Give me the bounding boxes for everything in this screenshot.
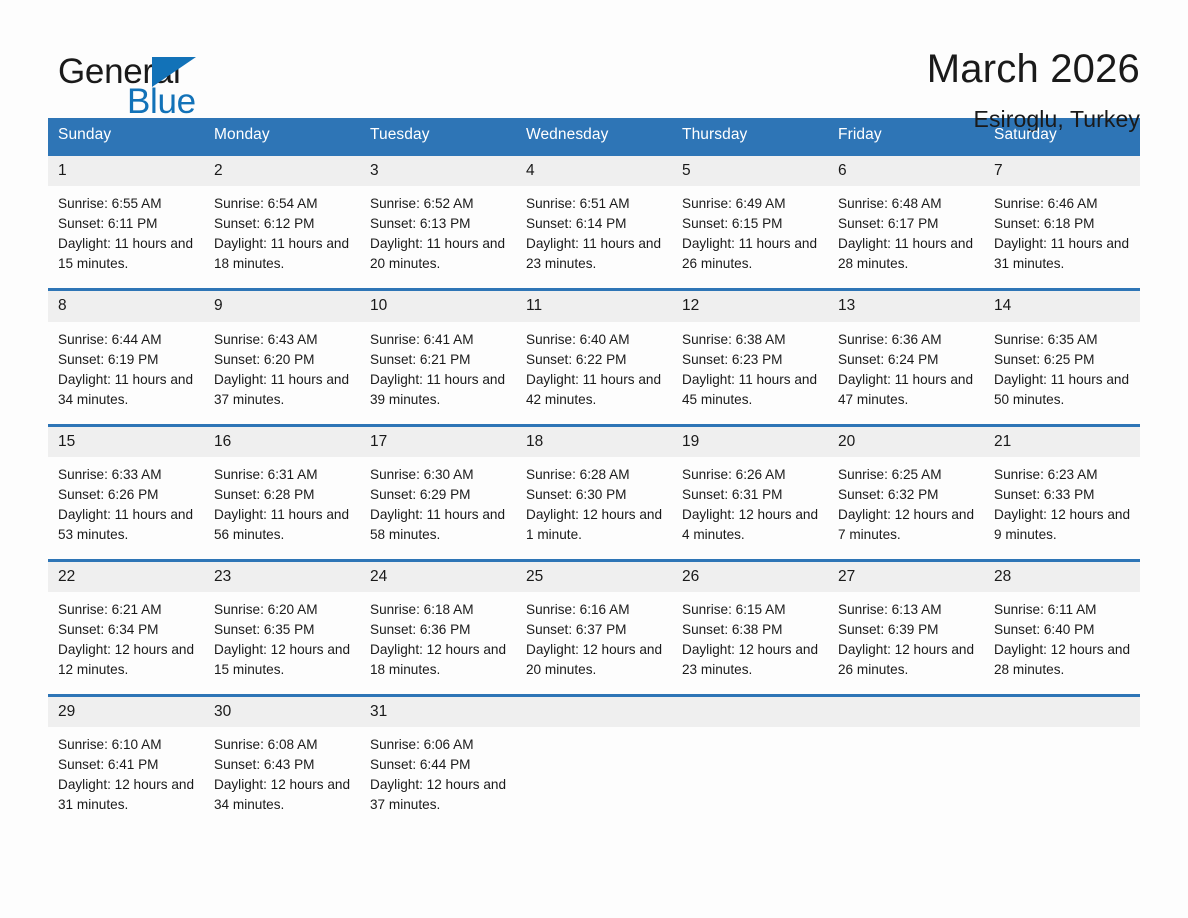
sunset-text: Sunset: 6:17 PM [838,214,976,234]
day-cell[interactable]: 24 Sunrise: 6:18 AM Sunset: 6:36 PM Dayl… [360,560,516,695]
day-cell-empty [672,696,828,830]
day-details: Sunrise: 6:43 AM Sunset: 6:20 PM Dayligh… [204,322,360,424]
day-number: 20 [828,427,984,457]
sunrise-text: Sunrise: 6:13 AM [838,600,976,620]
weekday-header-sunday: Sunday [48,118,204,155]
day-details: Sunrise: 6:10 AM Sunset: 6:41 PM Dayligh… [48,727,204,829]
sunrise-text: Sunrise: 6:08 AM [214,735,352,755]
daylight-text: Daylight: 11 hours and 15 minutes. [58,234,196,274]
daylight-text: Daylight: 12 hours and 15 minutes. [214,640,352,680]
daylight-text: Daylight: 12 hours and 1 minute. [526,505,664,545]
daylight-text: Daylight: 12 hours and 34 minutes. [214,775,352,815]
day-details: Sunrise: 6:48 AM Sunset: 6:17 PM Dayligh… [828,186,984,288]
sunrise-sunset-calendar-table: Sunday Monday Tuesday Wednesday Thursday… [48,118,1140,829]
sunrise-text: Sunrise: 6:16 AM [526,600,664,620]
day-cell[interactable]: 23 Sunrise: 6:20 AM Sunset: 6:35 PM Dayl… [204,560,360,695]
day-details: Sunrise: 6:20 AM Sunset: 6:35 PM Dayligh… [204,592,360,694]
day-cell[interactable]: 10 Sunrise: 6:41 AM Sunset: 6:21 PM Dayl… [360,290,516,425]
day-cell[interactable]: 21 Sunrise: 6:23 AM Sunset: 6:33 PM Dayl… [984,425,1140,560]
day-cell[interactable]: 22 Sunrise: 6:21 AM Sunset: 6:34 PM Dayl… [48,560,204,695]
daylight-text: Daylight: 12 hours and 37 minutes. [370,775,508,815]
sunrise-text: Sunrise: 6:10 AM [58,735,196,755]
page-header: General Blue March 2026 Esiroglu, Turkey [48,0,1140,110]
sunset-text: Sunset: 6:39 PM [838,620,976,640]
day-details: Sunrise: 6:16 AM Sunset: 6:37 PM Dayligh… [516,592,672,694]
sunrise-text: Sunrise: 6:40 AM [526,330,664,350]
day-details: Sunrise: 6:40 AM Sunset: 6:22 PM Dayligh… [516,322,672,424]
sunset-text: Sunset: 6:28 PM [214,485,352,505]
sunset-text: Sunset: 6:31 PM [682,485,820,505]
daylight-text: Daylight: 11 hours and 20 minutes. [370,234,508,274]
daylight-text: Daylight: 12 hours and 23 minutes. [682,640,820,680]
day-cell[interactable]: 7 Sunrise: 6:46 AM Sunset: 6:18 PM Dayli… [984,155,1140,290]
daylight-text: Daylight: 12 hours and 4 minutes. [682,505,820,545]
sunset-text: Sunset: 6:19 PM [58,350,196,370]
day-number: 10 [360,291,516,321]
day-details: Sunrise: 6:38 AM Sunset: 6:23 PM Dayligh… [672,322,828,424]
sunrise-text: Sunrise: 6:11 AM [994,600,1132,620]
day-number: 15 [48,427,204,457]
day-cell[interactable]: 15 Sunrise: 6:33 AM Sunset: 6:26 PM Dayl… [48,425,204,560]
day-cell[interactable]: 31 Sunrise: 6:06 AM Sunset: 6:44 PM Dayl… [360,696,516,830]
sunset-text: Sunset: 6:23 PM [682,350,820,370]
sunset-text: Sunset: 6:35 PM [214,620,352,640]
sunrise-text: Sunrise: 6:44 AM [58,330,196,350]
daylight-text: Daylight: 11 hours and 53 minutes. [58,505,196,545]
day-number: 29 [48,697,204,727]
day-number [516,697,672,727]
sunset-text: Sunset: 6:21 PM [370,350,508,370]
day-number: 23 [204,562,360,592]
day-number: 1 [48,156,204,186]
sunset-text: Sunset: 6:41 PM [58,755,196,775]
day-details: Sunrise: 6:31 AM Sunset: 6:28 PM Dayligh… [204,457,360,559]
day-number: 18 [516,427,672,457]
sunset-text: Sunset: 6:32 PM [838,485,976,505]
day-details: Sunrise: 6:06 AM Sunset: 6:44 PM Dayligh… [360,727,516,829]
sunrise-text: Sunrise: 6:55 AM [58,194,196,214]
daylight-text: Daylight: 12 hours and 31 minutes. [58,775,196,815]
calendar-page: General Blue March 2026 Esiroglu, Turkey… [0,0,1188,918]
calendar-week-row: 1 Sunrise: 6:55 AM Sunset: 6:11 PM Dayli… [48,155,1140,290]
weekday-header-monday: Monday [204,118,360,155]
day-cell[interactable]: 16 Sunrise: 6:31 AM Sunset: 6:28 PM Dayl… [204,425,360,560]
sunset-text: Sunset: 6:34 PM [58,620,196,640]
sunrise-text: Sunrise: 6:06 AM [370,735,508,755]
day-cell-empty [984,696,1140,830]
sunrise-text: Sunrise: 6:48 AM [838,194,976,214]
daylight-text: Daylight: 11 hours and 47 minutes. [838,370,976,410]
calendar-week-row: 29 Sunrise: 6:10 AM Sunset: 6:41 PM Dayl… [48,696,1140,830]
day-number [828,697,984,727]
sunset-text: Sunset: 6:43 PM [214,755,352,775]
sunrise-text: Sunrise: 6:36 AM [838,330,976,350]
daylight-text: Daylight: 12 hours and 20 minutes. [526,640,664,680]
sunrise-text: Sunrise: 6:52 AM [370,194,508,214]
daylight-text: Daylight: 11 hours and 28 minutes. [838,234,976,274]
day-cell[interactable]: 11 Sunrise: 6:40 AM Sunset: 6:22 PM Dayl… [516,290,672,425]
daylight-text: Daylight: 11 hours and 56 minutes. [214,505,352,545]
day-number: 6 [828,156,984,186]
sunset-text: Sunset: 6:30 PM [526,485,664,505]
day-number: 30 [204,697,360,727]
day-number: 2 [204,156,360,186]
sunset-text: Sunset: 6:38 PM [682,620,820,640]
general-blue-logo: General Blue [48,46,258,120]
sunrise-text: Sunrise: 6:23 AM [994,465,1132,485]
day-details: Sunrise: 6:15 AM Sunset: 6:38 PM Dayligh… [672,592,828,694]
day-number: 27 [828,562,984,592]
daylight-text: Daylight: 11 hours and 26 minutes. [682,234,820,274]
sunrise-text: Sunrise: 6:43 AM [214,330,352,350]
day-number: 17 [360,427,516,457]
day-number: 4 [516,156,672,186]
daylight-text: Daylight: 12 hours and 9 minutes. [994,505,1132,545]
weekday-header-tuesday: Tuesday [360,118,516,155]
day-cell[interactable]: 14 Sunrise: 6:35 AM Sunset: 6:25 PM Dayl… [984,290,1140,425]
day-number: 5 [672,156,828,186]
day-number: 16 [204,427,360,457]
calendar-week-row: 22 Sunrise: 6:21 AM Sunset: 6:34 PM Dayl… [48,560,1140,695]
day-cell[interactable]: 18 Sunrise: 6:28 AM Sunset: 6:30 PM Dayl… [516,425,672,560]
day-details: Sunrise: 6:55 AM Sunset: 6:11 PM Dayligh… [48,186,204,288]
day-number: 22 [48,562,204,592]
sunrise-text: Sunrise: 6:51 AM [526,194,664,214]
sunset-text: Sunset: 6:33 PM [994,485,1132,505]
daylight-text: Daylight: 11 hours and 37 minutes. [214,370,352,410]
daylight-text: Daylight: 11 hours and 50 minutes. [994,370,1132,410]
day-number: 9 [204,291,360,321]
sunrise-text: Sunrise: 6:20 AM [214,600,352,620]
day-details: Sunrise: 6:41 AM Sunset: 6:21 PM Dayligh… [360,322,516,424]
sunrise-text: Sunrise: 6:25 AM [838,465,976,485]
sunset-text: Sunset: 6:37 PM [526,620,664,640]
day-details: Sunrise: 6:21 AM Sunset: 6:34 PM Dayligh… [48,592,204,694]
day-cell[interactable]: 25 Sunrise: 6:16 AM Sunset: 6:37 PM Dayl… [516,560,672,695]
sunset-text: Sunset: 6:14 PM [526,214,664,234]
sunset-text: Sunset: 6:25 PM [994,350,1132,370]
sunset-text: Sunset: 6:22 PM [526,350,664,370]
logo-text-blue: Blue [127,82,196,122]
daylight-text: Daylight: 11 hours and 45 minutes. [682,370,820,410]
daylight-text: Daylight: 12 hours and 18 minutes. [370,640,508,680]
daylight-text: Daylight: 11 hours and 39 minutes. [370,370,508,410]
day-cell[interactable]: 8 Sunrise: 6:44 AM Sunset: 6:19 PM Dayli… [48,290,204,425]
sunrise-text: Sunrise: 6:49 AM [682,194,820,214]
day-cell[interactable]: 1 Sunrise: 6:55 AM Sunset: 6:11 PM Dayli… [48,155,204,290]
day-number: 25 [516,562,672,592]
day-cell-empty [828,696,984,830]
day-details: Sunrise: 6:52 AM Sunset: 6:13 PM Dayligh… [360,186,516,288]
sunrise-text: Sunrise: 6:30 AM [370,465,508,485]
daylight-text: Daylight: 12 hours and 12 minutes. [58,640,196,680]
sunset-text: Sunset: 6:18 PM [994,214,1132,234]
day-cell[interactable]: 30 Sunrise: 6:08 AM Sunset: 6:43 PM Dayl… [204,696,360,830]
day-cell[interactable]: 6 Sunrise: 6:48 AM Sunset: 6:17 PM Dayli… [828,155,984,290]
title-block: March 2026 Esiroglu, Turkey [927,46,1140,133]
day-details: Sunrise: 6:11 AM Sunset: 6:40 PM Dayligh… [984,592,1140,694]
daylight-text: Daylight: 11 hours and 42 minutes. [526,370,664,410]
day-number: 21 [984,427,1140,457]
day-number: 26 [672,562,828,592]
sunrise-text: Sunrise: 6:38 AM [682,330,820,350]
sunset-text: Sunset: 6:20 PM [214,350,352,370]
sunrise-text: Sunrise: 6:54 AM [214,194,352,214]
day-cell[interactable]: 9 Sunrise: 6:43 AM Sunset: 6:20 PM Dayli… [204,290,360,425]
daylight-text: Daylight: 11 hours and 34 minutes. [58,370,196,410]
sunrise-text: Sunrise: 6:41 AM [370,330,508,350]
day-cell[interactable]: 28 Sunrise: 6:11 AM Sunset: 6:40 PM Dayl… [984,560,1140,695]
page-title: March 2026 [927,48,1140,90]
day-number: 24 [360,562,516,592]
calendar-body: 1 Sunrise: 6:55 AM Sunset: 6:11 PM Dayli… [48,155,1140,830]
sunset-text: Sunset: 6:40 PM [994,620,1132,640]
day-details: Sunrise: 6:08 AM Sunset: 6:43 PM Dayligh… [204,727,360,829]
day-number [672,697,828,727]
calendar-week-row: 8 Sunrise: 6:44 AM Sunset: 6:19 PM Dayli… [48,290,1140,425]
day-details: Sunrise: 6:44 AM Sunset: 6:19 PM Dayligh… [48,322,204,424]
day-cell[interactable]: 20 Sunrise: 6:25 AM Sunset: 6:32 PM Dayl… [828,425,984,560]
day-cell[interactable]: 19 Sunrise: 6:26 AM Sunset: 6:31 PM Dayl… [672,425,828,560]
daylight-text: Daylight: 12 hours and 7 minutes. [838,505,976,545]
day-details: Sunrise: 6:23 AM Sunset: 6:33 PM Dayligh… [984,457,1140,559]
day-cell[interactable]: 26 Sunrise: 6:15 AM Sunset: 6:38 PM Dayl… [672,560,828,695]
day-number: 28 [984,562,1140,592]
sunset-text: Sunset: 6:29 PM [370,485,508,505]
day-number: 31 [360,697,516,727]
sunrise-text: Sunrise: 6:15 AM [682,600,820,620]
sunset-text: Sunset: 6:24 PM [838,350,976,370]
weekday-header-thursday: Thursday [672,118,828,155]
sunset-text: Sunset: 6:36 PM [370,620,508,640]
sunrise-text: Sunrise: 6:31 AM [214,465,352,485]
day-details: Sunrise: 6:46 AM Sunset: 6:18 PM Dayligh… [984,186,1140,288]
day-details: Sunrise: 6:54 AM Sunset: 6:12 PM Dayligh… [204,186,360,288]
sunset-text: Sunset: 6:26 PM [58,485,196,505]
day-details: Sunrise: 6:36 AM Sunset: 6:24 PM Dayligh… [828,322,984,424]
weekday-header-wednesday: Wednesday [516,118,672,155]
day-details: Sunrise: 6:51 AM Sunset: 6:14 PM Dayligh… [516,186,672,288]
day-cell[interactable]: 29 Sunrise: 6:10 AM Sunset: 6:41 PM Dayl… [48,696,204,830]
sunrise-text: Sunrise: 6:28 AM [526,465,664,485]
day-details: Sunrise: 6:30 AM Sunset: 6:29 PM Dayligh… [360,457,516,559]
day-cell[interactable]: 4 Sunrise: 6:51 AM Sunset: 6:14 PM Dayli… [516,155,672,290]
day-cell[interactable]: 27 Sunrise: 6:13 AM Sunset: 6:39 PM Dayl… [828,560,984,695]
day-number: 3 [360,156,516,186]
daylight-text: Daylight: 12 hours and 26 minutes. [838,640,976,680]
daylight-text: Daylight: 11 hours and 18 minutes. [214,234,352,274]
day-number: 12 [672,291,828,321]
sunrise-text: Sunrise: 6:21 AM [58,600,196,620]
daylight-text: Daylight: 11 hours and 31 minutes. [994,234,1132,274]
day-cell[interactable]: 17 Sunrise: 6:30 AM Sunset: 6:29 PM Dayl… [360,425,516,560]
sunrise-text: Sunrise: 6:33 AM [58,465,196,485]
day-details: Sunrise: 6:28 AM Sunset: 6:30 PM Dayligh… [516,457,672,559]
day-number [984,697,1140,727]
daylight-text: Daylight: 11 hours and 23 minutes. [526,234,664,274]
day-number: 14 [984,291,1140,321]
day-cell[interactable]: 2 Sunrise: 6:54 AM Sunset: 6:12 PM Dayli… [204,155,360,290]
day-number: 7 [984,156,1140,186]
sunrise-text: Sunrise: 6:26 AM [682,465,820,485]
day-cell[interactable]: 5 Sunrise: 6:49 AM Sunset: 6:15 PM Dayli… [672,155,828,290]
sunset-text: Sunset: 6:13 PM [370,214,508,234]
sunset-text: Sunset: 6:12 PM [214,214,352,234]
day-cell[interactable]: 12 Sunrise: 6:38 AM Sunset: 6:23 PM Dayl… [672,290,828,425]
day-cell-empty [516,696,672,830]
sunset-text: Sunset: 6:15 PM [682,214,820,234]
sunset-text: Sunset: 6:44 PM [370,755,508,775]
sunrise-text: Sunrise: 6:18 AM [370,600,508,620]
day-details: Sunrise: 6:33 AM Sunset: 6:26 PM Dayligh… [48,457,204,559]
day-number: 13 [828,291,984,321]
daylight-text: Daylight: 11 hours and 58 minutes. [370,505,508,545]
day-number: 11 [516,291,672,321]
day-details: Sunrise: 6:18 AM Sunset: 6:36 PM Dayligh… [360,592,516,694]
day-details: Sunrise: 6:35 AM Sunset: 6:25 PM Dayligh… [984,322,1140,424]
day-number: 19 [672,427,828,457]
day-cell[interactable]: 3 Sunrise: 6:52 AM Sunset: 6:13 PM Dayli… [360,155,516,290]
sunrise-text: Sunrise: 6:46 AM [994,194,1132,214]
daylight-text: Daylight: 12 hours and 28 minutes. [994,640,1132,680]
day-details: Sunrise: 6:26 AM Sunset: 6:31 PM Dayligh… [672,457,828,559]
sunset-text: Sunset: 6:11 PM [58,214,196,234]
day-number: 8 [48,291,204,321]
day-details: Sunrise: 6:49 AM Sunset: 6:15 PM Dayligh… [672,186,828,288]
day-details: Sunrise: 6:13 AM Sunset: 6:39 PM Dayligh… [828,592,984,694]
calendar-week-row: 15 Sunrise: 6:33 AM Sunset: 6:26 PM Dayl… [48,425,1140,560]
day-details: Sunrise: 6:25 AM Sunset: 6:32 PM Dayligh… [828,457,984,559]
day-cell[interactable]: 13 Sunrise: 6:36 AM Sunset: 6:24 PM Dayl… [828,290,984,425]
sunrise-text: Sunrise: 6:35 AM [994,330,1132,350]
